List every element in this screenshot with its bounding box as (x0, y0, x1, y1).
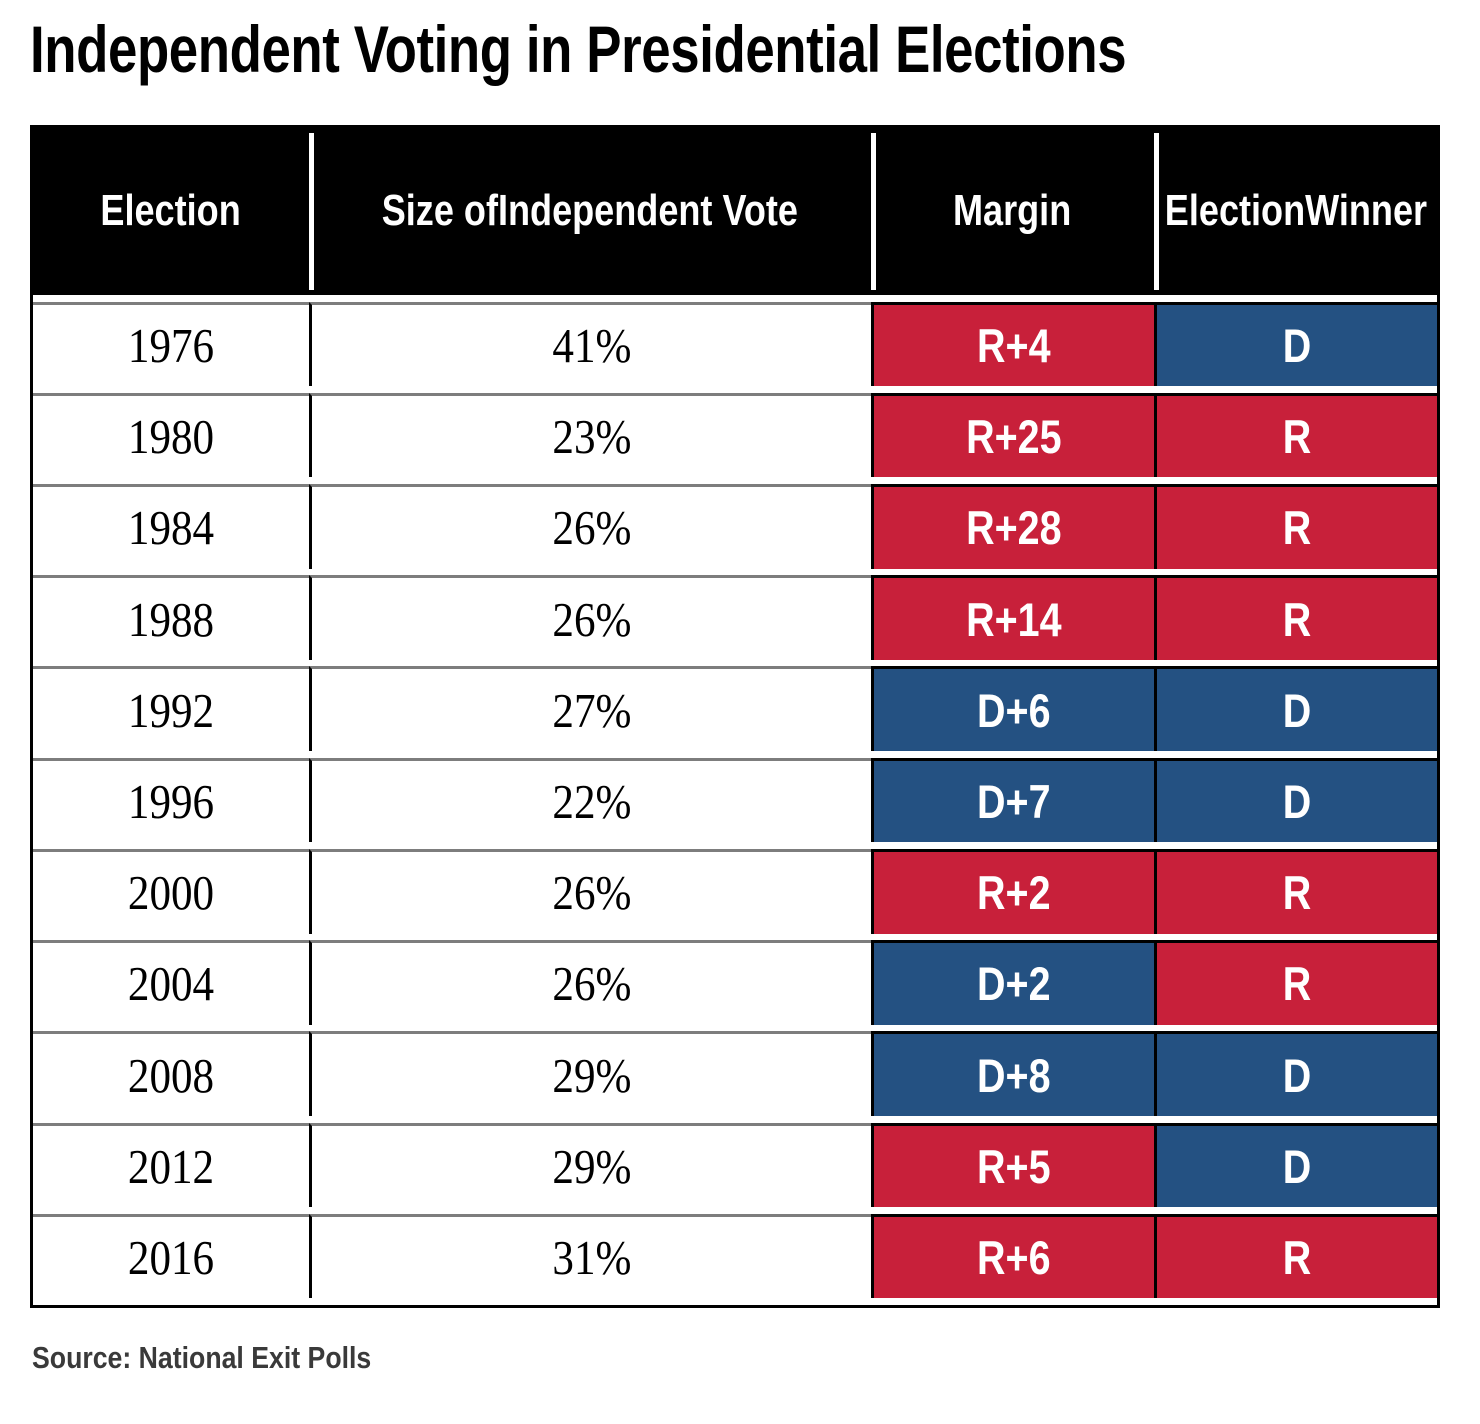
cell-independent-vote: 26% (309, 575, 871, 660)
cell-independent-vote: 41% (309, 302, 871, 387)
cell-independent-vote-text: 29% (552, 1047, 631, 1104)
cell-margin-text: D+8 (977, 1048, 1051, 1103)
cell-election: 1976 (33, 302, 309, 387)
cell-winner: R (1154, 484, 1437, 569)
cell-margin-text: R+14 (966, 592, 1061, 647)
source-note: Source: National Exit Polls (32, 1340, 371, 1376)
cell-independent-vote: 23% (309, 393, 871, 478)
cell-election-text: 2004 (128, 955, 214, 1012)
cell-independent-vote: 26% (309, 940, 871, 1025)
cell-margin: R+28 (871, 484, 1154, 569)
cell-election-text: 1996 (128, 773, 214, 830)
cell-margin: D+6 (871, 666, 1154, 751)
cell-winner: D (1154, 758, 1437, 843)
cell-winner: D (1154, 302, 1437, 387)
column-header-2: Size ofIndependent Vote (309, 128, 871, 295)
cell-election: 2012 (33, 1123, 309, 1208)
header-line-2: Independent Vote (498, 186, 798, 235)
cell-margin: R+14 (871, 575, 1154, 660)
cell-margin: D+7 (871, 758, 1154, 843)
cell-election-text: 2008 (128, 1047, 214, 1104)
cell-margin-text: R+6 (977, 1230, 1051, 1285)
cell-winner: R (1154, 575, 1437, 660)
cell-margin: D+2 (871, 940, 1154, 1025)
cell-independent-vote: 27% (309, 666, 871, 751)
cell-election: 1980 (33, 393, 309, 478)
cell-margin: R+2 (871, 849, 1154, 934)
cell-independent-vote-text: 27% (552, 682, 631, 739)
cell-winner-text: R (1283, 956, 1312, 1011)
cell-winner: D (1154, 666, 1437, 751)
cell-winner-text: R (1283, 1230, 1312, 1285)
cell-independent-vote: 26% (309, 484, 871, 569)
column-header-text: Margin (953, 188, 1071, 234)
cell-margin: R+25 (871, 393, 1154, 478)
cell-winner: D (1154, 1031, 1437, 1116)
cell-independent-vote-text: 26% (552, 499, 631, 556)
page-title: Independent Voting in Presidential Elect… (30, 8, 1150, 90)
cell-margin-text: D+2 (977, 956, 1051, 1011)
cell-winner: R (1154, 849, 1437, 934)
header-line-1: Margin (953, 186, 1071, 235)
cell-independent-vote: 26% (309, 849, 871, 934)
cell-election: 1984 (33, 484, 309, 569)
column-header-1: Election (33, 128, 309, 295)
cell-independent-vote-text: 26% (552, 864, 631, 921)
cell-independent-vote-text: 31% (552, 1229, 631, 1286)
cell-election-text: 1992 (128, 682, 214, 739)
cell-independent-vote-text: 26% (552, 591, 631, 648)
cell-independent-vote-text: 22% (552, 773, 631, 830)
cell-election-text: 1984 (128, 499, 214, 556)
cell-election: 2004 (33, 940, 309, 1025)
cell-election: 1996 (33, 758, 309, 843)
column-header-text: ElectionWinner (1164, 188, 1426, 234)
cell-election-text: 1988 (128, 591, 214, 648)
cell-margin-text: D+7 (977, 774, 1051, 829)
cell-winner-text: D (1283, 683, 1312, 738)
column-header-text: Election (101, 188, 241, 234)
cell-margin: D+8 (871, 1031, 1154, 1116)
cell-election-text: 2012 (128, 1138, 214, 1195)
cell-independent-vote: 22% (309, 758, 871, 843)
cell-winner: D (1154, 1123, 1437, 1208)
infographic-page: Independent Voting in Presidential Elect… (0, 0, 1480, 1424)
header-line-1: Size of (382, 186, 498, 235)
cell-independent-vote-text: 41% (552, 317, 631, 374)
cell-margin-text: R+5 (977, 1139, 1051, 1194)
column-header-3: Margin (871, 128, 1154, 295)
cell-margin-text: R+25 (966, 409, 1061, 464)
cell-margin-text: R+28 (966, 500, 1061, 555)
cell-winner-text: D (1283, 1139, 1312, 1194)
cell-winner: R (1154, 940, 1437, 1025)
cell-independent-vote: 29% (309, 1031, 871, 1116)
cell-winner-text: D (1283, 1048, 1312, 1103)
cell-independent-vote: 31% (309, 1214, 871, 1299)
column-header-text: Size ofIndependent Vote (382, 188, 798, 234)
table-grid: ElectionSize ofIndependent VoteMarginEle… (33, 128, 1437, 1305)
cell-winner-text: R (1283, 409, 1312, 464)
cell-election: 1992 (33, 666, 309, 751)
header-line-1: Election (1164, 186, 1304, 235)
cell-margin: R+6 (871, 1214, 1154, 1299)
cell-election: 2016 (33, 1214, 309, 1299)
cell-winner-text: D (1283, 318, 1312, 373)
cell-election: 1988 (33, 575, 309, 660)
cell-winner-text: R (1283, 865, 1312, 920)
cell-independent-vote-text: 26% (552, 955, 631, 1012)
cell-election-text: 1976 (128, 317, 214, 374)
cell-election: 2008 (33, 1031, 309, 1116)
cell-election-text: 2016 (128, 1229, 214, 1286)
cell-margin-text: D+6 (977, 683, 1051, 738)
cell-election-text: 1980 (128, 408, 214, 465)
cell-margin-text: R+2 (977, 865, 1051, 920)
cell-winner: R (1154, 393, 1437, 478)
cell-winner: R (1154, 1214, 1437, 1299)
data-table: ElectionSize ofIndependent VoteMarginEle… (30, 125, 1440, 1308)
cell-winner-text: R (1283, 500, 1312, 555)
cell-independent-vote: 29% (309, 1123, 871, 1208)
header-line-2: Winner (1305, 186, 1427, 235)
column-header-4: ElectionWinner (1154, 128, 1437, 295)
cell-election: 2000 (33, 849, 309, 934)
cell-independent-vote-text: 29% (552, 1138, 631, 1195)
cell-election-text: 2000 (128, 864, 214, 921)
cell-margin-text: R+4 (977, 318, 1051, 373)
cell-margin: R+4 (871, 302, 1154, 387)
cell-winner-text: D (1283, 774, 1312, 829)
cell-winner-text: R (1283, 592, 1312, 647)
cell-independent-vote-text: 23% (552, 408, 631, 465)
cell-margin: R+5 (871, 1123, 1154, 1208)
header-line-1: Election (101, 186, 241, 235)
